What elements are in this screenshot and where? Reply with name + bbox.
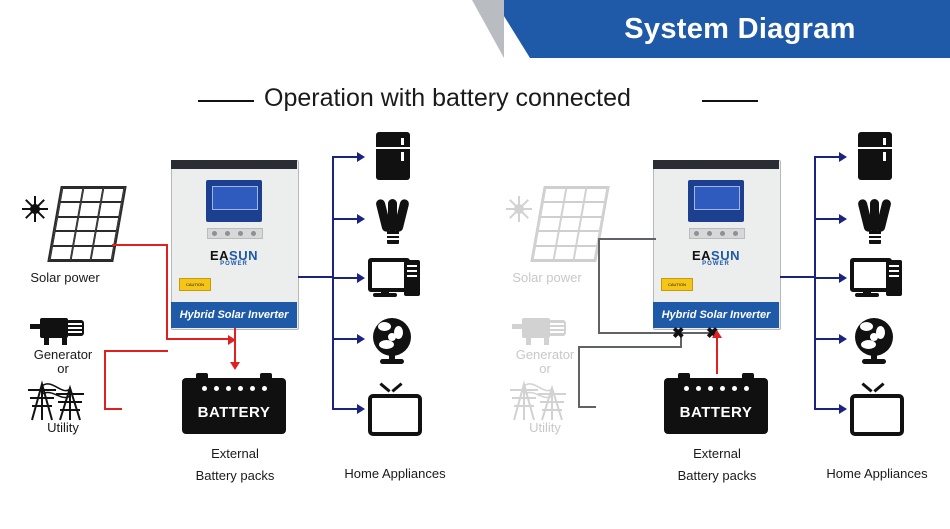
inverter-brand-sub: POWER [653, 261, 779, 267]
bulb-base [869, 231, 881, 244]
battery-caption-left-2: Battery packs [180, 468, 290, 483]
flow-branch-right-5 [814, 408, 842, 410]
flow-inverter-output-left [298, 276, 334, 278]
flow-arrow-up-right [712, 330, 722, 338]
sun-core [30, 204, 40, 214]
fan-icon-left [370, 318, 414, 364]
flow-generator-to-inverter-left [104, 350, 168, 352]
flow-solar-to-inverter-right [598, 238, 656, 240]
battery-caption-right-1: External [662, 446, 772, 461]
generator-leg [526, 338, 531, 345]
flow-arrow-right-a2 [839, 214, 847, 224]
battery-terminal [196, 373, 208, 378]
inverter-top-vent [653, 160, 779, 169]
generator-leg [62, 338, 67, 345]
title-rule-right [702, 100, 758, 102]
flow-arrow-left-a1 [357, 152, 365, 162]
inverter-left: EASUN POWER CAUTION Hybrid Solar Inverte… [171, 160, 297, 328]
system-diagram-page: System Diagram Operation with battery co… [0, 0, 950, 529]
flow-solar-drop-left [166, 244, 168, 340]
flow-solar-drop-right [598, 238, 600, 334]
flow-arrow-right-a5 [839, 404, 847, 414]
flow-arrow-left-a2 [357, 214, 365, 224]
solar-power-label-left: Solar power [10, 270, 120, 285]
generator-leg [44, 338, 49, 345]
inverter-caption: Hybrid Solar Inverter [171, 302, 297, 328]
flow-arrow-left-a3 [357, 273, 365, 283]
generator-cylinder [548, 320, 566, 336]
inverter-warning-label: CAUTION [179, 278, 211, 291]
flow-branch-right-1 [814, 156, 842, 158]
bulb-base [387, 231, 399, 244]
banner-gray-slash [472, 0, 504, 58]
utility-tower-icon-left [26, 376, 96, 422]
flow-arrow-down-left [230, 362, 240, 370]
flow-inverter-to-battery-left [234, 328, 236, 364]
cfl-bulb-icon-left [374, 198, 412, 244]
battery-pack-right: BATTERY [664, 378, 768, 434]
generator-icon-left [30, 310, 92, 346]
battery-terminal [678, 373, 690, 378]
generator-cylinder [66, 320, 84, 336]
computer-icon-left [368, 258, 420, 298]
inverter-brand-sub: POWER [171, 261, 297, 267]
flow-branch-right-4 [814, 338, 842, 340]
utility-label-right: Utility [490, 420, 600, 435]
inverter-warning-label: CAUTION [661, 278, 693, 291]
flow-battery-to-inverter-right [716, 336, 718, 374]
flow-appliance-bus-right [814, 156, 816, 410]
flow-branch-left-2 [332, 218, 360, 220]
flow-inverter-output-right [780, 276, 816, 278]
flow-solar-to-battery-left [166, 338, 232, 340]
inverter-top-vent [171, 160, 297, 169]
inverter-screen [688, 180, 744, 222]
inverter-lcd [694, 186, 740, 210]
pc-tower [886, 260, 902, 296]
flow-solar-to-inverter-left [112, 244, 168, 246]
inverter-right: EASUN POWER CAUTION Hybrid Solar Inverte… [653, 160, 779, 328]
utility-label-left: Utility [8, 420, 118, 435]
fan-icon-right [852, 318, 896, 364]
flow-arrow-right-a1 [839, 152, 847, 162]
battery-caption-left-1: External [180, 446, 290, 461]
refrigerator-icon-left [376, 132, 410, 180]
inverter-lcd [212, 186, 258, 210]
refrigerator-icon-right [858, 132, 892, 180]
flow-utility-riser-left [104, 350, 106, 410]
flow-arrow-left-a5 [357, 404, 365, 414]
television-icon-right [850, 388, 896, 430]
battery-pack-left: BATTERY [182, 378, 286, 434]
generator-label-left: Generator [8, 347, 118, 362]
home-appliances-label-left: Home Appliances [330, 466, 460, 481]
section-title: Operation with battery connected [264, 84, 631, 113]
television-icon-left [368, 388, 414, 430]
flow-branch-left-4 [332, 338, 360, 340]
or-label-left: or [8, 361, 118, 376]
flow-utility-to-riser-left [104, 408, 122, 410]
flow-appliance-bus-left [332, 156, 334, 410]
battery-caption-right-2: Battery packs [662, 468, 772, 483]
solar-power-label-right: Solar power [492, 270, 602, 285]
battery-label: BATTERY [680, 404, 753, 421]
inverter-button-row [689, 228, 745, 239]
flow-gen-bus-right [598, 332, 716, 334]
battery-label: BATTERY [198, 404, 271, 421]
flow-branch-right-3 [814, 277, 842, 279]
flow-arrow-right-a4 [839, 334, 847, 344]
battery-terminal [260, 373, 272, 378]
home-appliances-label-right: Home Appliances [812, 466, 942, 481]
battery-terminal [742, 373, 754, 378]
sun-core [514, 204, 524, 214]
sun-icon-left [22, 196, 48, 222]
flow-branch-left-5 [332, 408, 360, 410]
flow-arrow-left-a4 [357, 334, 365, 344]
generator-body [40, 318, 68, 338]
flow-utility-riser-right [578, 346, 580, 408]
generator-icon-right [512, 310, 574, 346]
generator-leg [544, 338, 549, 345]
flow-generator-line-right [578, 346, 682, 348]
generator-body [522, 318, 550, 338]
flow-branch-left-1 [332, 156, 360, 158]
flow-utility-line-right [578, 406, 596, 408]
inverter-screen [206, 180, 262, 222]
computer-icon-right [850, 258, 902, 298]
sun-icon-right [506, 196, 532, 222]
battery-indicator-dots [182, 386, 286, 391]
solar-panel-left [47, 186, 126, 262]
cfl-bulb-icon-right [856, 198, 894, 244]
inverter-button-row [207, 228, 263, 239]
flow-branch-right-2 [814, 218, 842, 220]
flow-branch-left-3 [332, 277, 360, 279]
pc-tower [404, 260, 420, 296]
utility-tower-icon-right [508, 376, 578, 422]
page-title: System Diagram [530, 0, 950, 58]
or-label-right: or [490, 361, 600, 376]
title-rule-left [198, 100, 254, 102]
flow-arrow-right-a3 [839, 273, 847, 283]
disconnect-mark-1: ✖ [672, 326, 685, 341]
battery-indicator-dots [664, 386, 768, 391]
generator-label-right: Generator [490, 347, 600, 362]
